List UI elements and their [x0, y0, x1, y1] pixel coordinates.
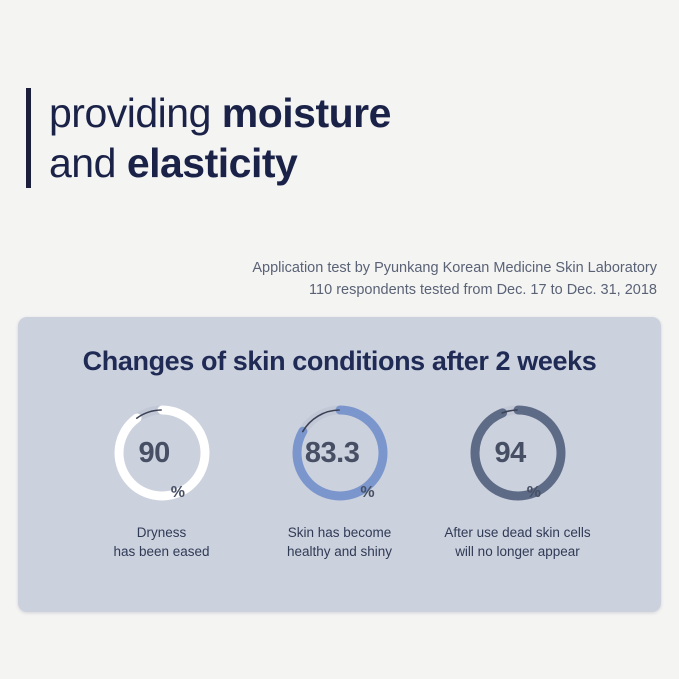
donut-value-3: 94 %	[464, 399, 572, 507]
donut-caption-1: Dryness has been eased	[113, 523, 209, 561]
donut-caption-2-line-2: healthy and shiny	[287, 542, 392, 561]
donut-caption-1-line-2: has been eased	[113, 542, 209, 561]
donut-caption-3-line-2: will no longer appear	[444, 542, 590, 561]
donut-item-dead-skin-cells: 94 % After use dead skin cells will no l…	[429, 399, 607, 561]
donut-caption-3: After use dead skin cells will no longer…	[444, 523, 590, 561]
donut-chart-row: 90 % Dryness has been eased 83.3 %	[18, 399, 661, 561]
donut-item-dryness: 90 % Dryness has been eased	[73, 399, 251, 561]
donut-value-1: 90 %	[108, 399, 216, 507]
donut-value-2-number: 83.3	[305, 437, 359, 470]
page-headline: providing moisture and elasticity	[26, 88, 391, 188]
donut-value-3-number: 94	[495, 437, 526, 470]
donut-value-1-number: 90	[139, 437, 170, 470]
donut-value-2-percent: %	[360, 484, 374, 507]
study-credit: Application test by Pyunkang Korean Medi…	[252, 257, 657, 301]
donut-chart-3: 94 %	[464, 399, 572, 507]
donut-value-2: 83.3 %	[286, 399, 394, 507]
headline-line-1-bold: moisture	[222, 90, 391, 136]
donut-caption-2-line-1: Skin has become	[287, 523, 392, 542]
donut-chart-2: 83.3 %	[286, 399, 394, 507]
headline-line-2-bold: elasticity	[127, 140, 298, 186]
donut-item-healthy-shiny: 83.3 % Skin has become healthy and shiny	[251, 399, 429, 561]
donut-chart-1: 90 %	[108, 399, 216, 507]
headline-line-1: providing moisture	[49, 88, 391, 138]
headline-accent-bar	[26, 88, 31, 188]
headline-line-2-light: and	[49, 140, 127, 186]
donut-caption-2: Skin has become healthy and shiny	[287, 523, 392, 561]
donut-value-3-percent: %	[527, 484, 541, 507]
study-credit-line-1: Application test by Pyunkang Korean Medi…	[252, 257, 657, 279]
headline-line-1-light: providing	[49, 90, 222, 136]
results-card: Changes of skin conditions after 2 weeks…	[18, 317, 661, 612]
headline-line-2: and elasticity	[49, 138, 391, 188]
donut-value-1-percent: %	[171, 484, 185, 507]
donut-caption-1-line-1: Dryness	[113, 523, 209, 542]
donut-caption-3-line-1: After use dead skin cells	[444, 523, 590, 542]
headline-text: providing moisture and elasticity	[49, 88, 391, 188]
card-title: Changes of skin conditions after 2 weeks	[18, 346, 661, 377]
study-credit-line-2: 110 respondents tested from Dec. 17 to D…	[252, 279, 657, 301]
